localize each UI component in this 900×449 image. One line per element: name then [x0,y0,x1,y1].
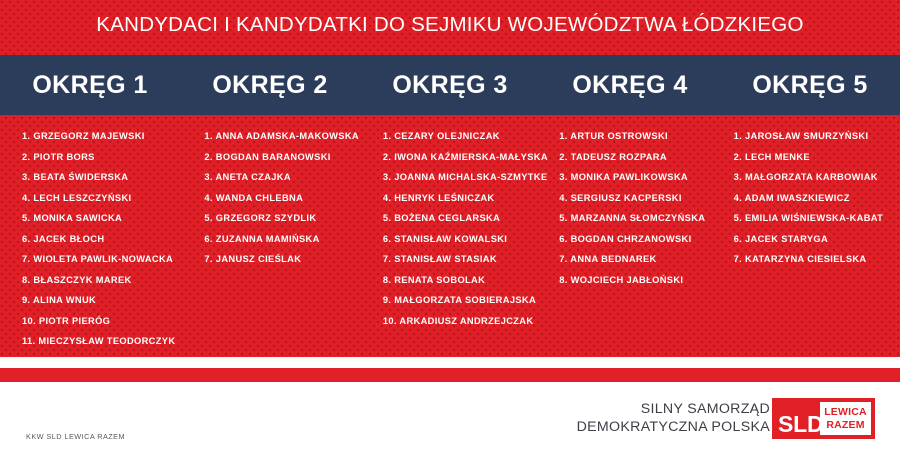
list-item: 4. WANDA CHLEBNA [204,188,370,209]
district-header-band: OKRĘG 1 OKRĘG 2 OKRĘG 3 OKRĘG 4 OKRĘG 5 [0,55,900,115]
list-item: 8. BŁASZCZYK MAREK [22,270,188,291]
committee-disclaimer: KKW SLD LEWICA RAZEM [26,432,125,441]
lewica-label: LEWICA [824,406,867,419]
list-item: 7. ANNA BEDNAREK [559,249,725,270]
list-item: 4. ADAM IWASZKIEWICZ [734,188,900,209]
list-item: 10. ARKADIUSZ ANDRZEJCZAK [383,311,549,332]
list-item: 6. STANISŁAW KOWALSKI [383,229,549,250]
list-item: 1. CEZARY OLEJNICZAK [383,126,549,147]
lewica-razem-badge: LEWICA RAZEM [820,402,871,435]
candidate-column-5: 1. JAROSŁAW SMURZYŃSKI 2. LECH MENKE 3. … [726,126,900,352]
red-separator-stripe [0,368,900,382]
list-item: 2. BOGDAN BARANOWSKI [204,147,370,168]
list-item: 8. RENATA SOBOLAK [383,270,549,291]
list-item: 5. MARZANNA SŁOMCZYŃSKA [559,208,725,229]
district-title-3: OKRĘG 3 [360,71,540,100]
page-title: KANDYDACI I KANDYDATKI DO SEJMIKU WOJEWÓ… [0,13,900,37]
list-item: 1. JAROSŁAW SMURZYŃSKI [734,126,900,147]
candidate-columns: 1. GRZEGORZ MAJEWSKI 2. PIOTR BORS 3. BE… [0,126,900,352]
slogan-line-1: SILNY SAMORZĄD [577,401,770,419]
white-separator [0,357,900,368]
district-title-5: OKRĘG 5 [720,71,900,100]
list-item: 7. JANUSZ CIEŚLAK [204,249,370,270]
list-item: 9. MAŁGORZATA SOBIERAJSKA [383,290,549,311]
list-item: 3. MAŁGORZATA KARBOWIAK [734,167,900,188]
razem-label: RAZEM [826,419,864,432]
list-item: 7. STANISŁAW STASIAK [383,249,549,270]
list-item: 5. MONIKA SAWICKA [22,208,188,229]
list-item: 7. WIOLETA PAWLIK-NOWACKA [22,249,188,270]
district-title-1: OKRĘG 1 [0,71,180,100]
list-item: 2. LECH MENKE [734,147,900,168]
candidate-column-4: 1. ARTUR OSTROWSKI 2. TADEUSZ ROZPARA 3.… [549,126,725,352]
list-item: 3. BEATA ŚWIDERSKA [22,167,188,188]
list-item: 6. BOGDAN CHRZANOWSKI [559,229,725,250]
list-item: 5. EMILIA WIŚNIEWSKA-KABAT [734,208,900,229]
sld-lewica-razem-logo: SLD LEWICA RAZEM [772,398,875,439]
candidate-column-3: 1. CEZARY OLEJNICZAK 2. IWONA KAŹMIERSKA… [371,126,549,352]
list-item: 2. TADEUSZ ROZPARA [559,147,725,168]
candidate-column-2: 1. ANNA ADAMSKA-MAKOWSKA 2. BOGDAN BARAN… [188,126,370,352]
district-title-2: OKRĘG 2 [180,71,360,100]
list-item: 3. ANETA CZAJKA [204,167,370,188]
list-item: 6. ZUZANNA MAMIŃSKA [204,229,370,250]
list-item: 3. MONIKA PAWLIKOWSKA [559,167,725,188]
list-item: 1. GRZEGORZ MAJEWSKI [22,126,188,147]
list-item: 2. IWONA KAŹMIERSKA-MAŁYSKA [383,147,549,168]
list-item: 2. PIOTR BORS [22,147,188,168]
election-poster: KANDYDACI I KANDYDATKI DO SEJMIKU WOJEWÓ… [0,0,900,449]
slogan-line-2: DEMOKRATYCZNA POLSKA [577,419,770,437]
candidate-column-1: 1. GRZEGORZ MAJEWSKI 2. PIOTR BORS 3. BE… [0,126,188,352]
list-item: 7. KATARZYNA CIESIELSKA [734,249,900,270]
list-item: 3. JOANNA MICHALSKA-SZMYTKE [383,167,549,188]
campaign-slogan: SILNY SAMORZĄD DEMOKRATYCZNA POLSKA [577,401,770,436]
district-title-4: OKRĘG 4 [540,71,720,100]
sld-wordmark: SLD [772,402,823,436]
list-item: 1. ARTUR OSTROWSKI [559,126,725,147]
list-item: 4. LECH LESZCZYŃSKI [22,188,188,209]
list-item: 6. JACEK STARYGA [734,229,900,250]
list-item: 10. PIOTR PIERÓG [22,311,188,332]
list-item: 11. MIECZYSŁAW TEODORCZYK [22,331,188,352]
list-item: 1. ANNA ADAMSKA-MAKOWSKA [204,126,370,147]
list-item: 5. BOŻENA CEGLARSKA [383,208,549,229]
list-item: 5. GRZEGORZ SZYDLIK [204,208,370,229]
list-item: 4. SERGIUSZ KACPERSKI [559,188,725,209]
list-item: 6. JACEK BŁOCH [22,229,188,250]
list-item: 9. ALINA WNUK [22,290,188,311]
list-item: 4. HENRYK LEŚNICZAK [383,188,549,209]
list-item: 8. WOJCIECH JABŁOŃSKI [559,270,725,291]
